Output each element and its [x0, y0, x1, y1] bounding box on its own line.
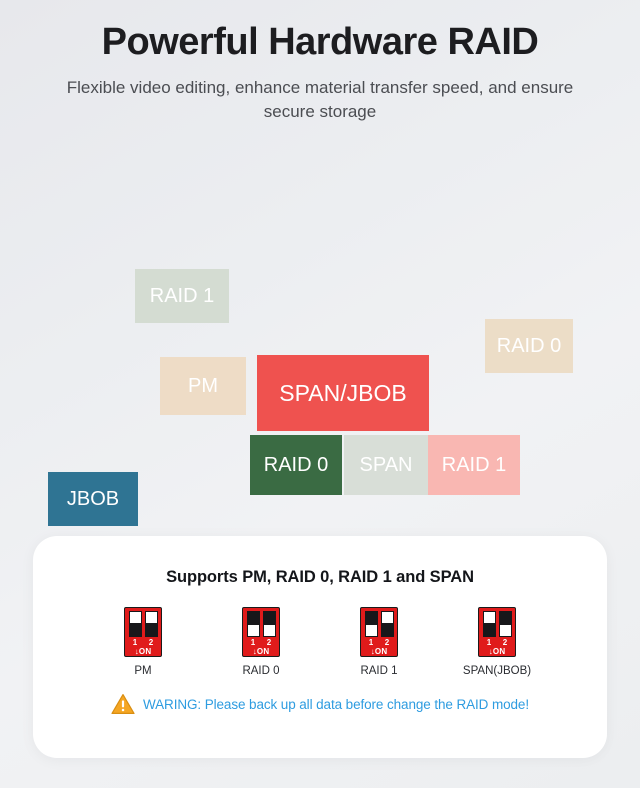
dip-numbers: 1 2: [129, 638, 158, 647]
dip-number-2: 2: [263, 638, 276, 647]
warning-row: WARING: Please back up all data before c…: [33, 693, 607, 715]
dip-numbers: 1 2: [365, 638, 394, 647]
dip-switch-row: 1 2 ↓ON PM 1 2 ↓ON RAID 0: [33, 607, 607, 677]
mode-block-jbob-blue: JBOB: [48, 472, 138, 526]
dip-lever-2: [145, 611, 158, 637]
dip-lever-2: [263, 611, 276, 637]
dip-knob-1: [130, 612, 141, 623]
raid-mode-blocks-stage: RAID 1 RAID 0 PM SPAN/JBOB RAID 0 SPAN R…: [0, 125, 640, 515]
dip-knob-1: [484, 612, 495, 623]
dip-lever-1: [247, 611, 260, 637]
mode-block-raid0-tan: RAID 0: [485, 319, 573, 373]
dip-numbers: 1 2: [247, 638, 276, 647]
dip-lever-1: [129, 611, 142, 637]
dip-lever-1: [483, 611, 496, 637]
dip-levers: [129, 611, 158, 637]
dip-numbers: 1 2: [483, 638, 512, 647]
dip-lever-1: [365, 611, 378, 637]
dip-knob-2: [500, 625, 511, 636]
dip-switch-label-span-jbob: SPAN(JBOB): [463, 665, 531, 677]
dip-levers: [483, 611, 512, 637]
dip-on-label: ↓ON: [253, 647, 270, 656]
warning-text: WARING: Please back up all data before c…: [143, 697, 529, 712]
dip-switch-span-jbob-icon: 1 2 ↓ON: [478, 607, 516, 657]
page-title: Powerful Hardware RAID: [0, 22, 640, 64]
dip-on-label: ↓ON: [135, 647, 152, 656]
dip-number-1: 1: [247, 638, 260, 647]
dip-lever-2: [499, 611, 512, 637]
dip-number-2: 2: [499, 638, 512, 647]
dip-switch-label-pm: PM: [134, 665, 151, 677]
dip-on-label: ↓ON: [489, 647, 506, 656]
dip-number-1: 1: [129, 638, 142, 647]
dip-switch-item-raid0: 1 2 ↓ON RAID 0: [219, 607, 303, 677]
dip-levers: [247, 611, 276, 637]
dip-switch-label-raid0: RAID 0: [242, 665, 279, 677]
dip-knob-2: [264, 625, 275, 636]
mode-block-span-sage: SPAN: [344, 435, 428, 495]
dip-switch-item-span-jbob: 1 2 ↓ON SPAN(JBOB): [455, 607, 539, 677]
raid-info-card: Supports PM, RAID 0, RAID 1 and SPAN 1 2…: [33, 536, 607, 758]
dip-knob-1: [248, 625, 259, 636]
dip-switch-item-pm: 1 2 ↓ON PM: [101, 607, 185, 677]
mode-block-raid1-sage: RAID 1: [135, 269, 229, 323]
dip-number-1: 1: [365, 638, 378, 647]
dip-levers: [365, 611, 394, 637]
dip-knob-1: [366, 625, 377, 636]
mode-block-pm-beige: PM: [160, 357, 246, 415]
dip-switch-raid1-icon: 1 2 ↓ON: [360, 607, 398, 657]
dip-knob-2: [382, 612, 393, 623]
page-subtitle: Flexible video editing, enhance material…: [55, 76, 585, 125]
card-heading: Supports PM, RAID 0, RAID 1 and SPAN: [33, 568, 607, 587]
mode-block-span-jbob: SPAN/JBOB: [257, 355, 429, 431]
dip-number-1: 1: [483, 638, 496, 647]
dip-switch-pm-icon: 1 2 ↓ON: [124, 607, 162, 657]
dip-on-label: ↓ON: [371, 647, 388, 656]
dip-switch-item-raid1: 1 2 ↓ON RAID 1: [337, 607, 421, 677]
dip-number-2: 2: [145, 638, 158, 647]
dip-switch-label-raid1: RAID 1: [360, 665, 397, 677]
dip-number-2: 2: [381, 638, 394, 647]
mode-block-raid0-green: RAID 0: [250, 435, 342, 495]
dip-lever-2: [381, 611, 394, 637]
mode-block-raid1-pink: RAID 1: [428, 435, 520, 495]
header-section: Powerful Hardware RAID Flexible video ed…: [0, 0, 640, 125]
dip-knob-2: [146, 612, 157, 623]
warning-triangle-icon: [111, 693, 135, 715]
dip-switch-raid0-icon: 1 2 ↓ON: [242, 607, 280, 657]
